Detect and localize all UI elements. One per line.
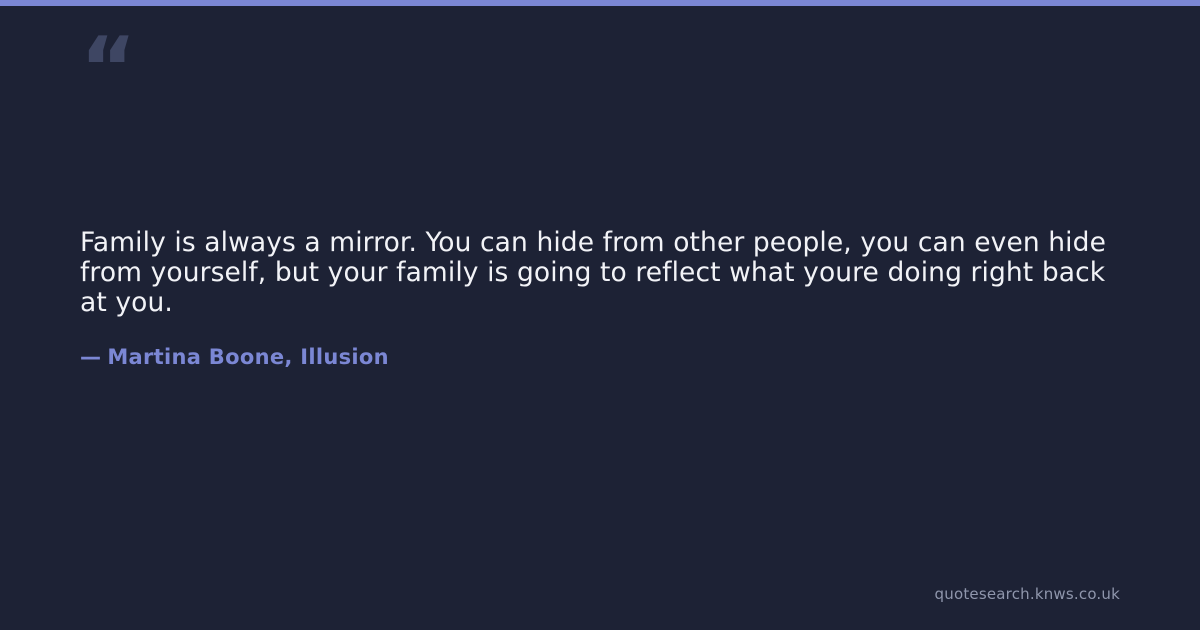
quotation-mark-icon: “ bbox=[80, 26, 135, 112]
top-accent-bar bbox=[0, 0, 1200, 6]
attribution-dash: — bbox=[80, 345, 101, 369]
attribution-author: Martina Boone, Illusion bbox=[107, 345, 389, 369]
site-url: quotesearch.knws.co.uk bbox=[935, 585, 1120, 603]
quote-attribution: —Martina Boone, Illusion bbox=[80, 345, 389, 369]
quote-body: Family is always a mirror. You can hide … bbox=[80, 228, 1120, 319]
quote-text: Family is always a mirror. You can hide … bbox=[80, 228, 1120, 319]
quote-card: “ Family is always a mirror. You can hid… bbox=[0, 0, 1200, 630]
